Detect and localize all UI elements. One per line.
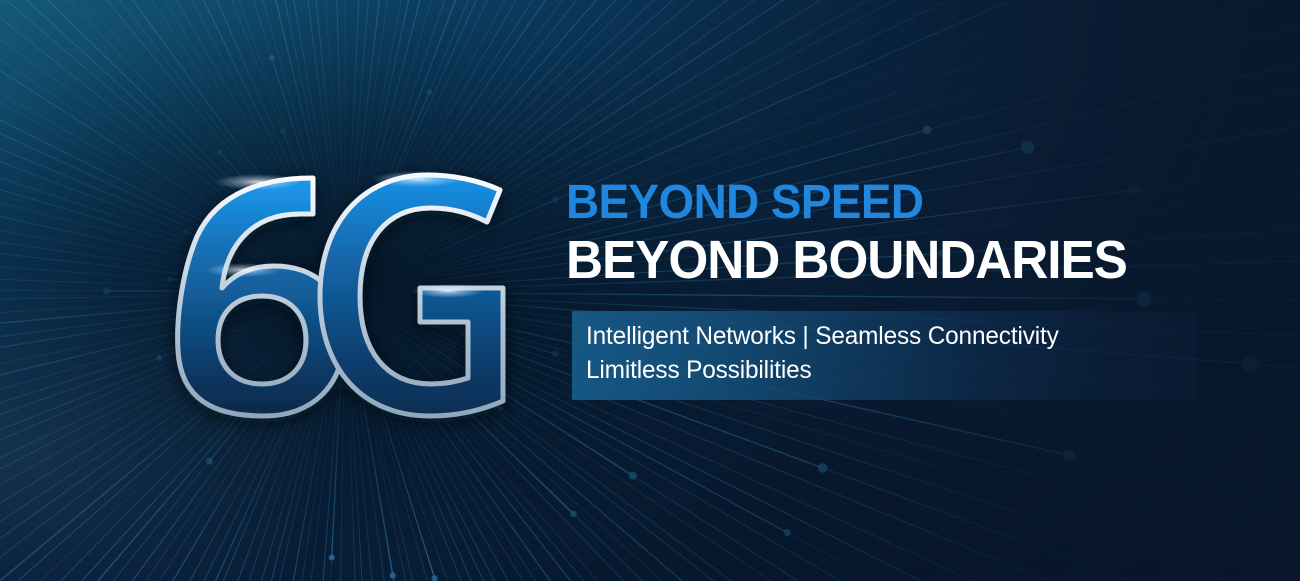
headline-line-1: BEYOND SPEED <box>566 178 1235 228</box>
headline-line-2: BEYOND BOUNDARIES <box>566 231 1231 289</box>
background-soft-glow <box>0 0 1300 581</box>
tagline-line-1: Intelligent Networks | Seamless Connecti… <box>586 319 1191 353</box>
banner-root: BEYOND SPEED BEYOND BOUNDARIES Intellige… <box>0 0 1300 581</box>
headline-block: BEYOND SPEED BEYOND BOUNDARIES <box>566 178 1266 289</box>
tagline-block: Intelligent Networks | Seamless Connecti… <box>586 319 1191 387</box>
tagline-line-2: Limitless Possibilities <box>586 353 1191 387</box>
